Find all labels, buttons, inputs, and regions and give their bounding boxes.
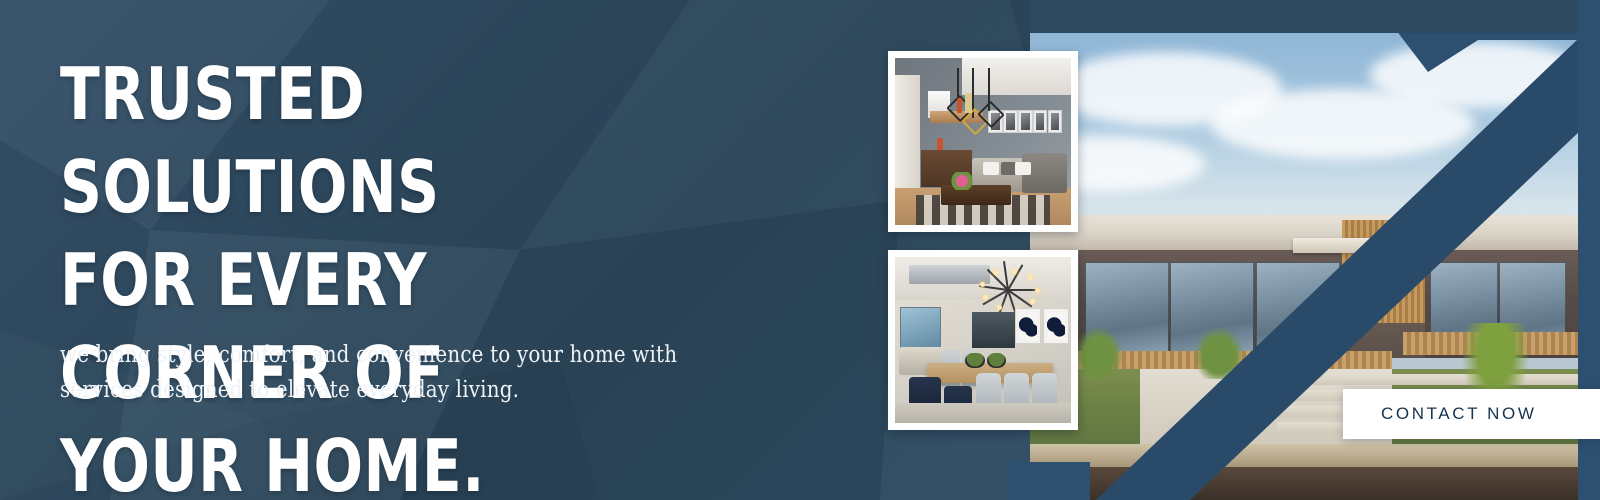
- wall-art-frame: [1018, 110, 1032, 134]
- living-room-image: [895, 58, 1071, 225]
- shrub: [1194, 327, 1243, 378]
- ceiling: [962, 58, 1071, 95]
- hero-subheadline: we bring style, comfort, and convenience…: [60, 338, 694, 408]
- contact-now-button[interactable]: CONTACT NOW: [1343, 389, 1600, 439]
- vase: [965, 93, 971, 113]
- awning: [1293, 238, 1414, 253]
- pendant-lamp: [972, 68, 974, 118]
- contact-now-label: CONTACT NOW: [1343, 404, 1536, 424]
- sputnik-chandelier: [978, 267, 1038, 310]
- cushion: [983, 162, 999, 175]
- window: [900, 307, 941, 352]
- flower-bouquet: [950, 172, 975, 190]
- inset-photo-dining-room: [888, 250, 1078, 430]
- wall-art-frame: [1003, 110, 1017, 134]
- curb: [1030, 444, 1578, 467]
- inset-photo-living-room: [888, 51, 1078, 232]
- hero-banner: TRUSTED SOLUTIONS FOR EVERY CORNER OF YO…: [0, 0, 1600, 500]
- cloud: [1370, 42, 1578, 107]
- vase: [957, 98, 962, 113]
- centerpiece-bowl: [965, 353, 984, 368]
- hero-copy: TRUSTED SOLUTIONS FOR EVERY CORNER OF YO…: [60, 48, 760, 500]
- kitchen-cabinetry: [972, 312, 1014, 349]
- pendant-lamp: [988, 68, 990, 111]
- centerpiece-bowl: [987, 353, 1006, 368]
- page-title: TRUSTED SOLUTIONS FOR EVERY CORNER OF YO…: [60, 48, 690, 500]
- shrub: [1282, 327, 1331, 378]
- cushion: [1015, 162, 1031, 175]
- road: [1030, 467, 1578, 500]
- wall-art-frame: [1033, 110, 1047, 134]
- shrub: [1074, 327, 1123, 378]
- curtain: [895, 75, 920, 195]
- dining-room-image: [895, 257, 1071, 423]
- wall-art: [1015, 308, 1042, 343]
- wall-art-frame: [1048, 110, 1062, 134]
- wood-slat-screen: [1342, 220, 1424, 323]
- floor: [895, 403, 1071, 423]
- wall-art: [1043, 308, 1070, 343]
